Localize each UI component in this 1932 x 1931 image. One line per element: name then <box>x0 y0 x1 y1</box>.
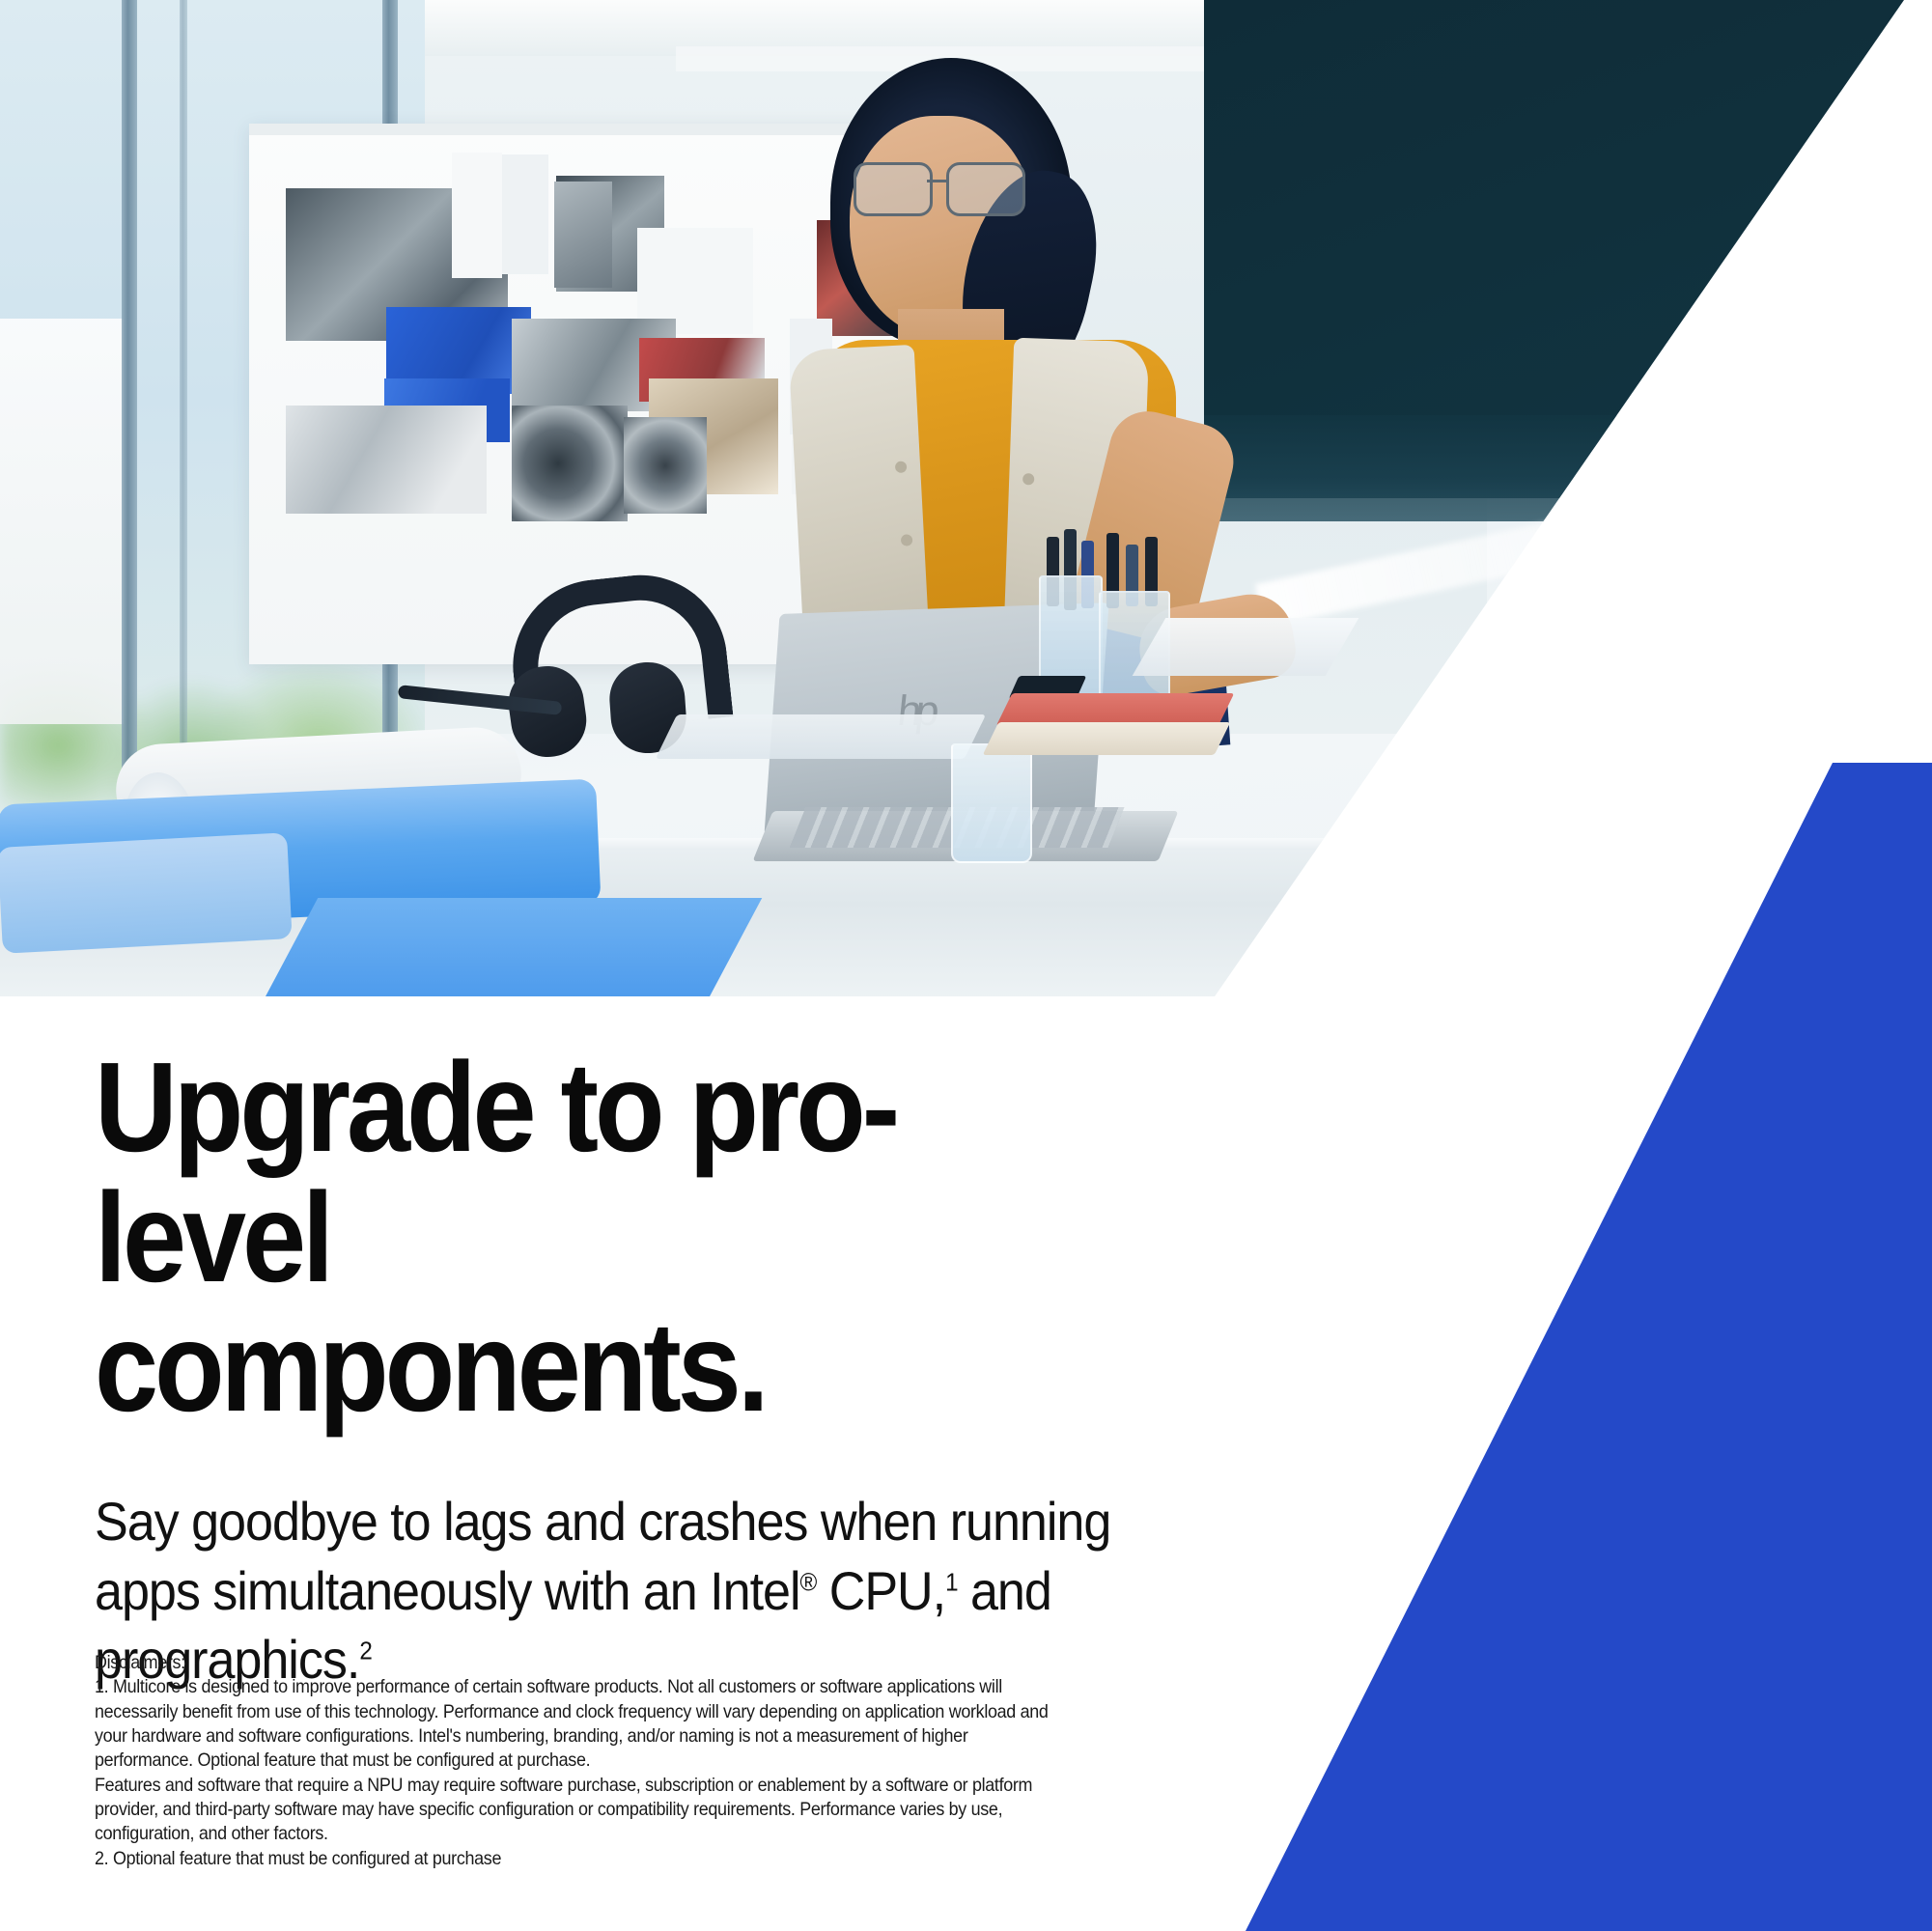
eyeglass-lens <box>946 162 1025 216</box>
disclaimer-item: 1. Multicore is designed to improve perf… <box>95 1675 1063 1773</box>
blueprint-sheet <box>262 898 762 996</box>
page-title: Upgrade to pro-level components. <box>95 1043 1120 1433</box>
vest-button <box>901 534 913 546</box>
subtitle-part-2: CPU, <box>816 1560 945 1621</box>
disclaimers-heading: Disclaimers: <box>95 1651 1063 1675</box>
registered-mark: ® <box>800 1567 817 1596</box>
footnote-ref-1: 1 <box>945 1567 957 1596</box>
blueprint-roll <box>0 832 293 954</box>
sketch-wheel-rim-photo <box>512 406 628 521</box>
external-keyboard <box>656 714 986 759</box>
poster-canvas: hp Upgrade to pro-level components. Say <box>0 0 1932 1931</box>
sketch-detail-sheet <box>452 153 502 278</box>
mood-board-frame <box>249 124 925 135</box>
eyeglass-bridge <box>927 180 946 182</box>
window-panel <box>0 319 124 724</box>
dark-wall-panel-shade <box>1204 415 1932 521</box>
disclaimer-item: 2. Optional feature that must be configu… <box>95 1847 1063 1871</box>
sketch-wheel-rim-photo <box>624 417 707 514</box>
disclaimers-block: Disclaimers: 1. Multicore is designed to… <box>95 1651 1063 1871</box>
eyeglasses-icon <box>854 162 1027 212</box>
vest-button <box>1022 473 1034 485</box>
blue-diagonal-accent <box>1246 763 1932 1931</box>
text-content: Upgrade to pro-level components. Say goo… <box>95 1043 1234 1694</box>
eyeglass-lens <box>854 162 933 216</box>
water-glass <box>951 743 1032 863</box>
sketch-detail-sheet <box>502 154 548 274</box>
sketch-wheel-photo <box>554 182 612 288</box>
sketch-car-line-drawing <box>286 406 487 514</box>
red-notebook <box>996 693 1235 726</box>
vest-button <box>895 461 908 473</box>
cream-notebook <box>983 722 1231 755</box>
disclaimer-item: Features and software that require a NPU… <box>95 1774 1063 1847</box>
loose-paper <box>1133 618 1359 676</box>
hero-photo: hp <box>0 0 1932 996</box>
